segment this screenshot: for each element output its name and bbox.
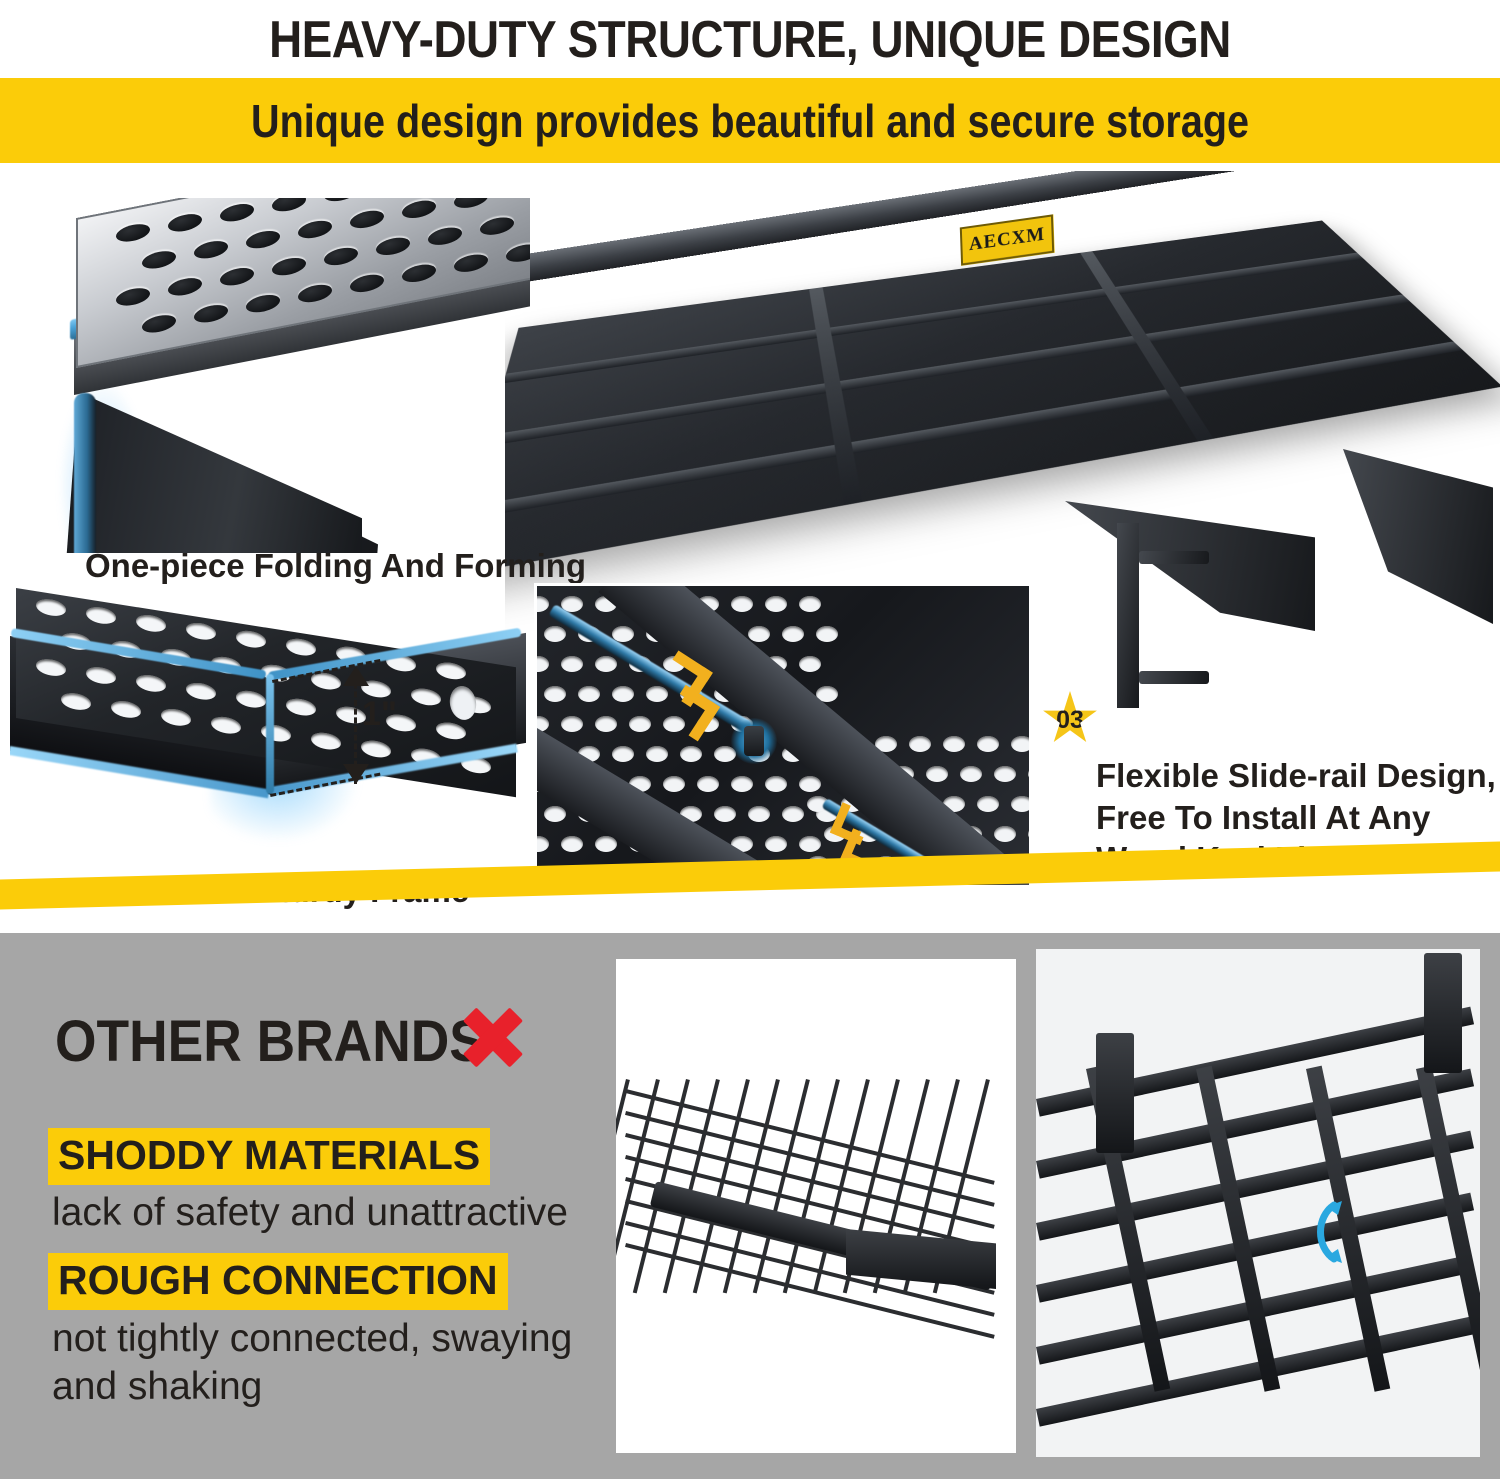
frame-corner-edge: [266, 674, 274, 794]
support-bracket: [1065, 501, 1315, 631]
other-brands-heading: OTHER BRANDS: [55, 1008, 485, 1075]
other-brands-section: OTHER BRANDS SHODDY MATERIALS lack of sa…: [0, 933, 1500, 1479]
anchor-bolt: [1139, 551, 1209, 564]
competitor-flat-bar-rack-photo: [1036, 949, 1480, 1457]
dimension-arrow-down: [343, 764, 369, 784]
defect-title-2: ROUGH CONNECTION: [48, 1253, 508, 1310]
sway-motion-arrow-icon: [1304, 1197, 1358, 1267]
infographic-page: HEAVY-DUTY STRUCTURE, UNIQUE DESIGN Uniq…: [0, 0, 1500, 1479]
perforated-deck: [505, 221, 1500, 577]
page-title: HEAVY-DUTY STRUCTURE, UNIQUE DESIGN: [90, 2, 1410, 78]
anchor-bolt: [1139, 671, 1209, 684]
wall-bracket-left: [1096, 1033, 1134, 1153]
wall-post: [1117, 523, 1139, 708]
dimension-arrow-up: [343, 666, 369, 686]
page-subtitle: Unique design provides beautiful and sec…: [105, 78, 1395, 163]
competitor-wire-rack-photo: [616, 959, 1016, 1453]
rack-bracket: [846, 1229, 996, 1289]
support-bracket: [1343, 449, 1493, 624]
feature-01-image: [18, 198, 530, 553]
feature-03-image: [534, 583, 1032, 888]
defect-description-1: lack of safety and unattractive: [52, 1189, 568, 1237]
defect-title-1: SHODDY MATERIALS: [48, 1128, 490, 1185]
red-x-icon: [450, 995, 534, 1079]
bolt-highlight: [731, 718, 777, 764]
perforation-pattern: [505, 227, 1480, 558]
defect-description-2: not tightly connected, swaying and shaki…: [52, 1315, 612, 1412]
feature-02-image: 1": [10, 578, 530, 868]
channel-lip: [74, 393, 96, 553]
wall-bracket-right: [1424, 953, 1462, 1073]
dimension-value: 1": [362, 695, 397, 734]
channel-inner-face: [92, 398, 362, 553]
